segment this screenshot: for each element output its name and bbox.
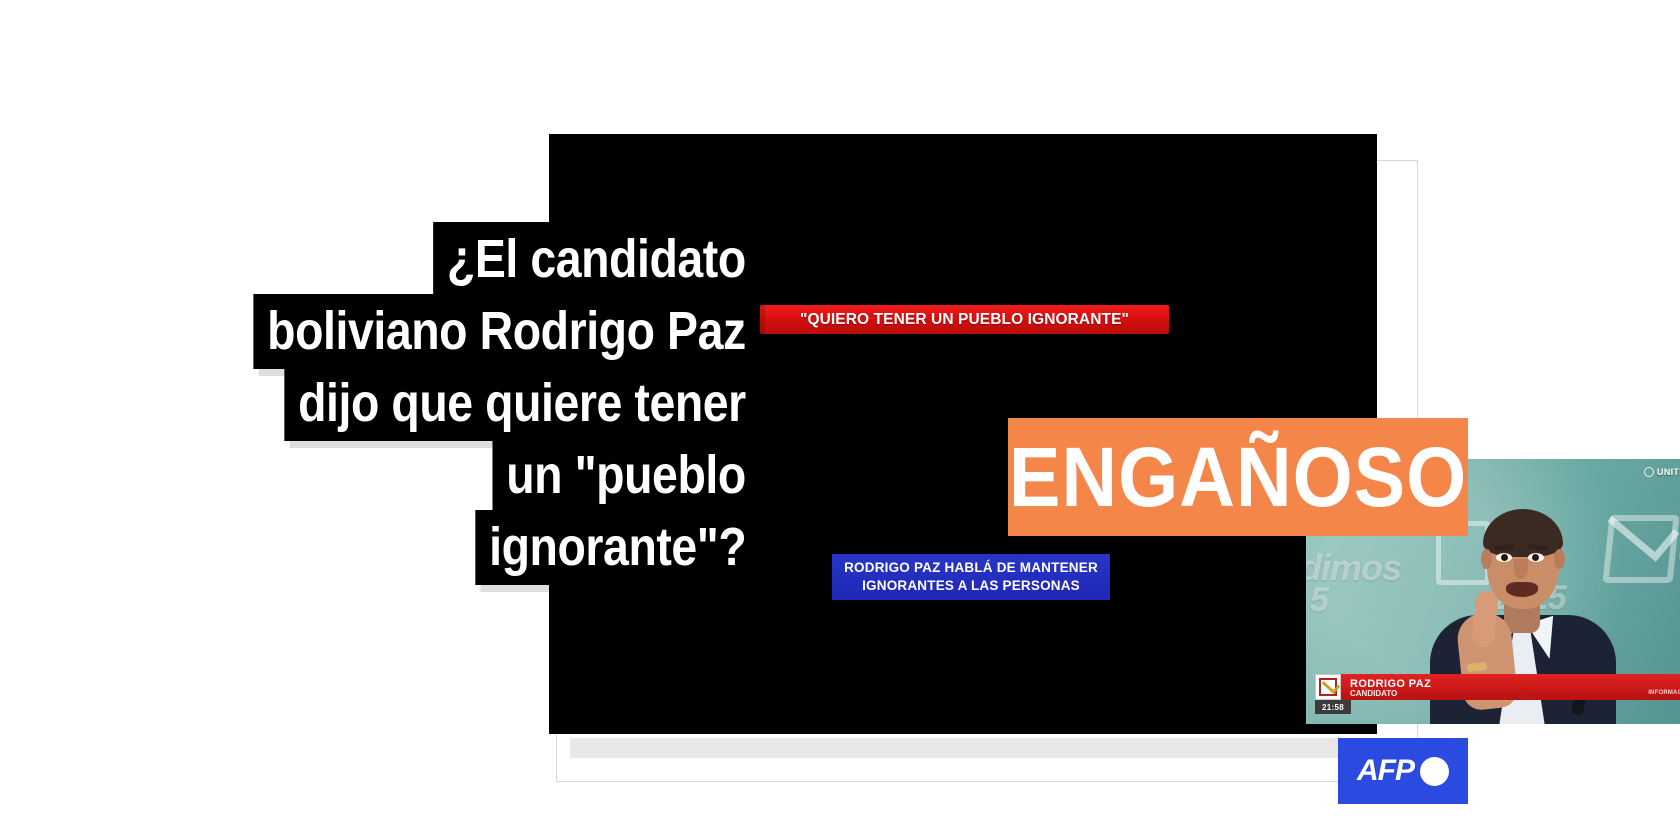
channel-name: UNITEL — [1657, 467, 1680, 477]
headline-line: dijo que quiere tener — [285, 366, 760, 441]
channel-logo: UNITEL HD — [1644, 467, 1680, 477]
headline-line: ignorante"? — [475, 510, 760, 585]
ear-right — [1554, 549, 1565, 569]
ear-left — [1481, 549, 1492, 569]
lower-third-name: RODRIGO PAZ — [1341, 676, 1431, 690]
check-mark — [1322, 676, 1341, 694]
headline-line: boliviano Rodrigo Paz — [254, 294, 760, 369]
pupil-right — [1532, 554, 1539, 561]
tv-headline-text: "QUIERO TENER UN PUEBLO IGNORANTE" — [800, 311, 1129, 329]
ballot-check-icon — [1315, 674, 1341, 700]
nose — [1514, 559, 1528, 579]
tv-banner-line-2: IGNORANTES A LAS PERSONAS — [862, 577, 1080, 595]
tv-banner-line-1: RODRIGO PAZ HABLÁ DE MANTENER — [844, 559, 1098, 577]
verdict-badge: ENGAÑOSO — [1008, 418, 1468, 536]
claim-headline: ¿El candidato boliviano Rodrigo Paz dijo… — [120, 222, 760, 582]
ballot-box — [1319, 678, 1337, 696]
card-shadow-strip — [570, 738, 1400, 758]
lower-third-right-text: INFORMACIÓN EN — [1648, 690, 1680, 696]
lower-third-bar: RODRIGO PAZ CANDIDATO INFORMACIÓN EN — [1315, 674, 1680, 700]
pupil-left — [1501, 554, 1508, 561]
channel-dot-icon — [1644, 467, 1654, 477]
backdrop-word-year-left: 5 — [1310, 581, 1328, 620]
afp-wordmark: AFP — [1357, 754, 1414, 788]
broadcast-timestamp: 21:58 — [1315, 700, 1351, 714]
mouth — [1506, 582, 1538, 597]
tv-blue-banner: RODRIGO PAZ HABLÁ DE MANTENER IGNORANTES… — [832, 554, 1110, 600]
headline-line: ¿El candidato — [434, 222, 760, 297]
afp-dot-icon — [1420, 757, 1449, 786]
tv-headline-strip: "QUIERO TENER UN PUEBLO IGNORANTE" — [760, 305, 1169, 334]
verdict-label: ENGAÑOSO — [1009, 435, 1467, 519]
screenshot-canvas: dimos 5 así ecidi 2025 q — [0, 0, 1680, 840]
lower-third-subtitle: CANDIDATO — [1341, 690, 1431, 698]
headline-line: un "pueblo — [493, 438, 760, 513]
afp-logo: AFP — [1338, 738, 1468, 804]
